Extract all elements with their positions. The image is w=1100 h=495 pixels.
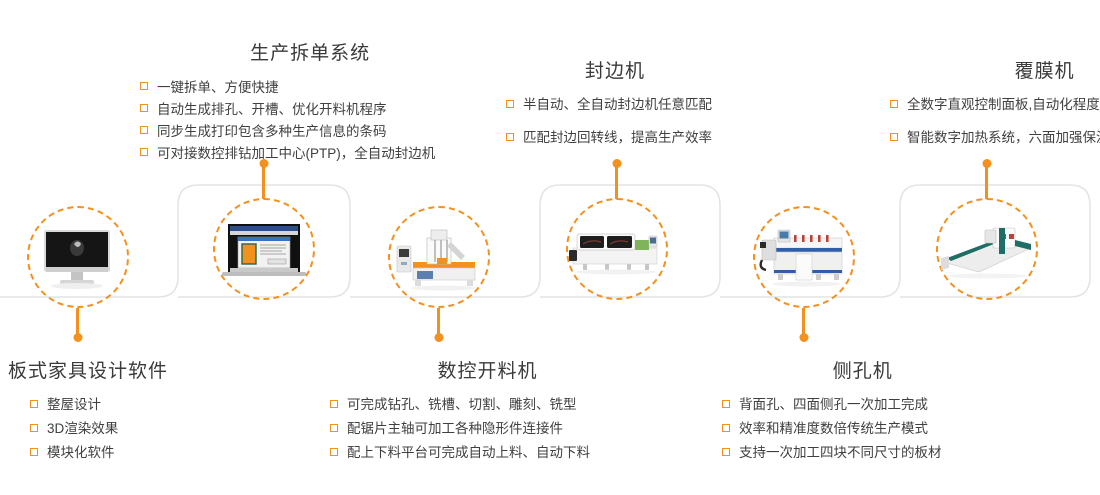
stage-title: 板式家具设计软件 — [8, 356, 168, 383]
bullet-item: 效率和精准度数倍传统生产模式 — [722, 419, 942, 440]
bullet-item: 可对接数控排钻加工中心(PTP)，全自动封边机 — [140, 143, 435, 165]
bullet-item: 一键拆单、方便快捷 — [140, 77, 435, 99]
stage-title: 数控开料机 — [330, 356, 590, 383]
bullet-text: 3D渲染效果 — [47, 421, 118, 436]
bullet-text: 模块化软件 — [47, 445, 115, 460]
stage-label-cnc-cutting-machine: 数控开料机 可完成钻孔、铣槽、切割、雕刻、铣型 配锯片主轴可加工各种隐形件连接件… — [330, 356, 590, 467]
bullet-item: 模块化软件 — [30, 443, 168, 464]
stage-title: 侧孔机 — [722, 356, 942, 383]
bullet-text: 可对接数控排钻加工中心(PTP)，全自动封边机 — [157, 146, 435, 161]
square-outline-icon — [506, 133, 514, 141]
bullet-text: 整屋设计 — [47, 397, 101, 412]
stem-dot — [434, 333, 443, 342]
bullet-text: 可完成钻孔、铣槽、切割、雕刻、铣型 — [347, 397, 577, 412]
square-outline-icon — [890, 100, 898, 108]
bullet-text: 匹配封边回转线，提高生产效率 — [523, 130, 712, 145]
stem-dot — [73, 333, 82, 342]
stage-title: 生产拆单系统 — [140, 38, 435, 65]
bullet-text: 智能数字加热系统，六面加强保温 — [907, 130, 1100, 145]
square-outline-icon — [140, 82, 148, 90]
stage-label-laminating-machine: 覆膜机 全数字直观控制面板,自动化程度高 智能数字加热系统，六面加强保温 — [890, 56, 1100, 161]
stage-label-edge-banding-machine: 封边机 半自动、全自动封边机任意匹配 匹配封边回转线，提高生产效率 — [506, 56, 712, 161]
bullet-item: 配上下料平台可完成自动上料、自动下料 — [330, 443, 590, 464]
bullet-text: 自动生成排孔、开槽、优化开料机程序 — [157, 102, 387, 117]
square-outline-icon — [30, 424, 38, 432]
stage-node-side-hole-drilling-machine[interactable] — [753, 206, 855, 308]
cnc-router-icon — [391, 222, 487, 292]
bullet-item: 3D渲染效果 — [30, 419, 168, 440]
laptop-software-icon — [216, 214, 312, 284]
laminating-machine-icon — [939, 214, 1035, 284]
stage-stem-production-splitting-system — [262, 163, 265, 199]
process-flow-diagram: 板式家具设计软件 整屋设计 3D渲染效果 模块化软件 生产拆单 — [0, 0, 1100, 495]
stage-stem-side-hole-drilling-machine — [802, 308, 805, 338]
bullet-item: 配锯片主轴可加工各种隐形件连接件 — [330, 419, 590, 440]
bullet-text: 效率和精准度数倍传统生产模式 — [739, 421, 928, 436]
bullet-item: 匹配封边回转线，提高生产效率 — [506, 128, 712, 149]
stage-label-design-software: 板式家具设计软件 整屋设计 3D渲染效果 模块化软件 — [8, 356, 168, 467]
bullet-item: 全数字直观控制面板,自动化程度高 — [890, 95, 1100, 116]
square-outline-icon — [330, 448, 338, 456]
square-outline-icon — [506, 100, 514, 108]
stage-node-edge-banding-machine[interactable] — [566, 198, 668, 300]
bullet-item: 同步生成打印包含多种生产信息的条码 — [140, 121, 435, 143]
bullet-text: 同步生成打印包含多种生产信息的条码 — [157, 124, 387, 139]
stage-stem-cnc-cutting-machine — [437, 308, 440, 338]
square-outline-icon — [722, 400, 730, 408]
bullet-item: 自动生成排孔、开槽、优化开料机程序 — [140, 99, 435, 121]
bullet-text: 支持一次加工四块不同尺寸的板材 — [739, 445, 942, 460]
bullet-text: 半自动、全自动封边机任意匹配 — [523, 97, 712, 112]
square-outline-icon — [30, 448, 38, 456]
stage-stem-design-software — [76, 308, 79, 338]
stage-node-laminating-machine[interactable] — [936, 198, 1038, 300]
stage-bullet-list: 整屋设计 3D渲染效果 模块化软件 — [8, 395, 168, 464]
bullet-item: 背面孔、四面侧孔一次加工完成 — [722, 395, 942, 416]
bullet-text: 配上下料平台可完成自动上料、自动下料 — [347, 445, 590, 460]
stage-label-side-hole-drilling-machine: 侧孔机 背面孔、四面侧孔一次加工完成 效率和精准度数倍传统生产模式 支持一次加工… — [722, 356, 942, 467]
bullet-item: 可完成钻孔、铣槽、切割、雕刻、铣型 — [330, 395, 590, 416]
stage-node-cnc-cutting-machine[interactable] — [388, 206, 490, 308]
side-drilling-machine-icon — [756, 222, 852, 292]
square-outline-icon — [722, 448, 730, 456]
square-outline-icon — [330, 400, 338, 408]
square-outline-icon — [330, 424, 338, 432]
stage-label-production-splitting-system: 生产拆单系统 一键拆单、方便快捷 自动生成排孔、开槽、优化开料机程序 同步生成打… — [140, 38, 435, 164]
bullet-item: 智能数字加热系统，六面加强保温 — [890, 128, 1100, 149]
stage-node-design-software[interactable] — [27, 206, 129, 308]
stage-title: 覆膜机 — [890, 56, 1100, 83]
stage-bullet-list: 半自动、全自动封边机任意匹配 匹配封边回转线，提高生产效率 — [506, 95, 712, 149]
edge-bander-icon — [569, 214, 665, 284]
square-outline-icon — [30, 400, 38, 408]
square-outline-icon — [140, 126, 148, 134]
stage-node-production-splitting-system[interactable] — [213, 198, 315, 300]
bullet-text: 全数字直观控制面板,自动化程度高 — [907, 97, 1100, 112]
stage-stem-laminating-machine — [985, 163, 988, 199]
stage-title: 封边机 — [506, 56, 712, 83]
bullet-item: 半自动、全自动封边机任意匹配 — [506, 95, 712, 116]
stage-bullet-list: 可完成钻孔、铣槽、切割、雕刻、铣型 配锯片主轴可加工各种隐形件连接件 配上下料平… — [330, 395, 590, 464]
bullet-text: 背面孔、四面侧孔一次加工完成 — [739, 397, 928, 412]
square-outline-icon — [140, 104, 148, 112]
square-outline-icon — [722, 424, 730, 432]
square-outline-icon — [890, 133, 898, 141]
stage-bullet-list: 一键拆单、方便快捷 自动生成排孔、开槽、优化开料机程序 同步生成打印包含多种生产… — [140, 77, 435, 164]
bullet-item: 支持一次加工四块不同尺寸的板材 — [722, 443, 942, 464]
stage-stem-edge-banding-machine — [615, 163, 618, 199]
imac-computer-icon — [30, 222, 126, 292]
bullet-item: 整屋设计 — [30, 395, 168, 416]
square-outline-icon — [140, 148, 148, 156]
stage-bullet-list: 背面孔、四面侧孔一次加工完成 效率和精准度数倍传统生产模式 支持一次加工四块不同… — [722, 395, 942, 464]
stem-dot — [799, 333, 808, 342]
bullet-text: 一键拆单、方便快捷 — [157, 80, 279, 95]
bullet-text: 配锯片主轴可加工各种隐形件连接件 — [347, 421, 563, 436]
stage-bullet-list: 全数字直观控制面板,自动化程度高 智能数字加热系统，六面加强保温 — [890, 95, 1100, 149]
